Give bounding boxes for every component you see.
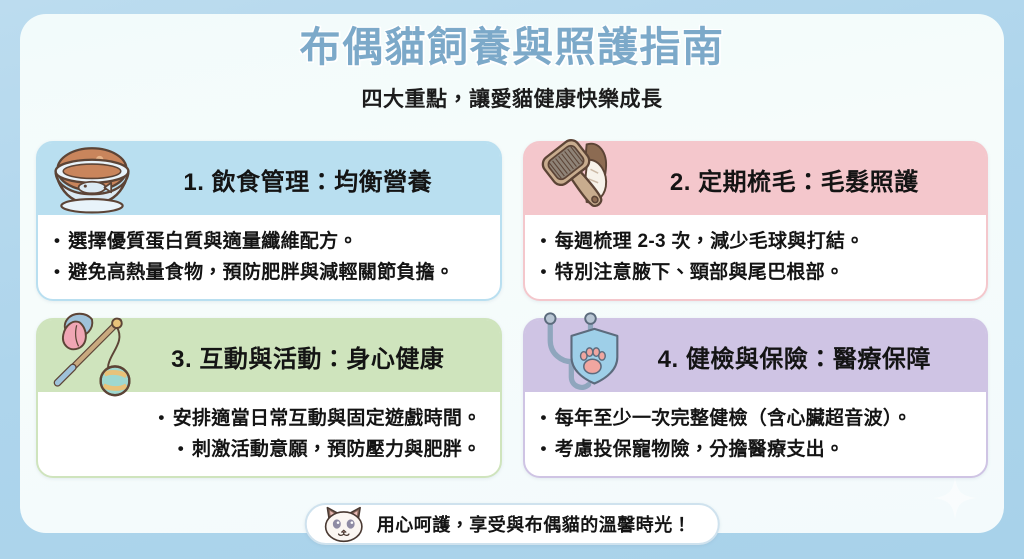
poster-header: 布偶貓飼養與照護指南 四大重點，讓愛貓健康快樂成長 [0, 22, 1024, 113]
card-health-insurance: 4. 健檢與保險：醫療保障 • 每年至少一次完整健檢（含心臟超音波）。 • 考慮… [523, 318, 989, 478]
sparkle-decoration [934, 477, 976, 519]
list-item-text: 安排適當日常互動與固定遊戲時間。 [173, 404, 482, 435]
bullet-icon: • [541, 440, 547, 457]
list-item: • 刺激活動意願，預防壓力與肥胖。 [178, 435, 482, 466]
card-grooming: 2. 定期梳毛：毛髮照護 • 每週梳理 2-3 次，減少毛球與打結。 • 特別注… [523, 141, 989, 301]
page-title: 布偶貓飼養與照護指南 [0, 22, 1024, 73]
bullet-icon: • [158, 409, 164, 426]
bullet-icon: • [178, 440, 184, 457]
footer-text: 用心呵護，享受與布偶貓的溫馨時光！ [377, 511, 692, 537]
card-activity: 3. 互動與活動：身心健康 • 安排適當日常互動與固定遊戲時間。 • 刺激活動意… [36, 318, 502, 478]
list-item-text: 考慮投保寵物險，分擔醫療支出。 [555, 435, 845, 466]
list-item: • 安排適當日常互動與固定遊戲時間。 [158, 404, 481, 435]
list-item: • 特別注意腋下、頸部與尾巴根部。 [541, 258, 973, 289]
bullet-icon: • [54, 263, 60, 280]
card-body: • 安排適當日常互動與固定遊戲時間。 • 刺激活動意願，預防壓力與肥胖。 [38, 392, 500, 476]
infographic-poster: 布偶貓飼養與照護指南 四大重點，讓愛貓健康快樂成長 [0, 0, 1024, 559]
card-body: • 每年至少一次完整健檢（含心臟超音波）。 • 考慮投保寵物險，分擔醫療支出。 [525, 392, 987, 476]
list-item: • 選擇優質蛋白質與適量纖維配方。 [54, 227, 486, 258]
list-item-text: 避免高熱量食物，預防肥胖與減輕關節負擔。 [68, 258, 454, 289]
list-item-text: 每週梳理 2-3 次，減少毛球與打結。 [555, 227, 865, 258]
card-title: 3. 互動與活動：身心健康 [38, 339, 500, 374]
card-title: 4. 健檢與保險：醫療保障 [525, 339, 987, 374]
bullet-icon: • [54, 232, 60, 249]
bullet-icon: • [541, 409, 547, 426]
card-diet: 1. 飲食管理：均衡營養 • 選擇優質蛋白質與適量纖維配方。 • 避免高熱量食物… [36, 141, 502, 301]
list-item: • 每年至少一次完整健檢（含心臟超音波）。 [541, 404, 973, 435]
card-header: 3. 互動與活動：身心健康 [38, 320, 500, 392]
card-header: 1. 飲食管理：均衡營養 [38, 143, 500, 215]
list-item: • 每週梳理 2-3 次，減少毛球與打結。 [541, 227, 973, 258]
list-item: • 考慮投保寵物險，分擔醫療支出。 [541, 435, 973, 466]
list-item-text: 每年至少一次完整健檢（含心臟超音波）。 [555, 404, 912, 435]
card-grid: 1. 飲食管理：均衡營養 • 選擇優質蛋白質與適量纖維配方。 • 避免高熱量食物… [36, 141, 988, 478]
list-item-text: 特別注意腋下、頸部與尾巴根部。 [555, 258, 845, 289]
card-header: 2. 定期梳毛：毛髮照護 [525, 143, 987, 215]
list-item: • 避免高熱量食物，預防肥胖與減輕關節負擔。 [54, 258, 486, 289]
card-title: 2. 定期梳毛：毛髮照護 [525, 162, 987, 197]
bullet-icon: • [541, 232, 547, 249]
page-subtitle: 四大重點，讓愛貓健康快樂成長 [0, 83, 1024, 113]
card-title: 1. 飲食管理：均衡營養 [38, 162, 500, 197]
list-item-text: 選擇優質蛋白質與適量纖維配方。 [68, 227, 358, 258]
card-header: 4. 健檢與保險：醫療保障 [525, 320, 987, 392]
ragdoll-cat-face-icon [321, 505, 367, 543]
card-body: • 每週梳理 2-3 次，減少毛球與打結。 • 特別注意腋下、頸部與尾巴根部。 [525, 215, 987, 299]
footer-banner: 用心呵護，享受與布偶貓的溫馨時光！ [305, 503, 720, 545]
bullet-icon: • [541, 263, 547, 280]
list-item-text: 刺激活動意願，預防壓力與肥胖。 [192, 435, 482, 466]
card-body: • 選擇優質蛋白質與適量纖維配方。 • 避免高熱量食物，預防肥胖與減輕關節負擔。 [38, 215, 500, 299]
